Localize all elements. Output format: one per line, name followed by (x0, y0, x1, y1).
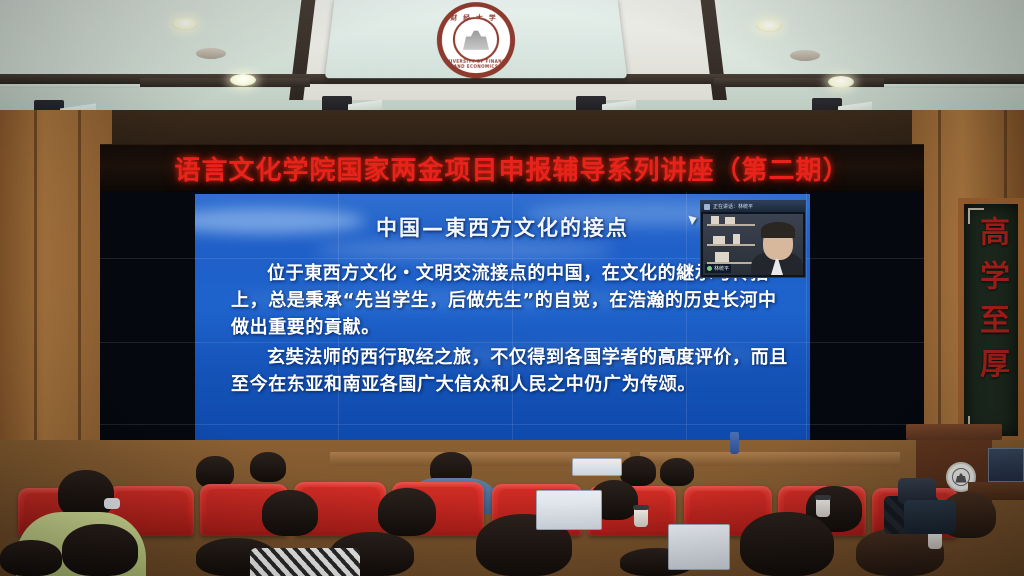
ceiling-light (172, 18, 198, 30)
audience-head (740, 512, 834, 576)
banner-title: 语言文化学院国家两金项目申报辅导系列讲座（第二期） (174, 150, 849, 187)
audience-head (660, 458, 694, 486)
audience-head (250, 452, 286, 482)
smoke-detector-icon (790, 50, 820, 61)
led-video-wall[interactable]: 中国—東西方文化的接点 位于東西方文化・文明交流接点的中国，在文化的継承与传播上… (100, 192, 924, 460)
university-emblem-plate: 财经大学 UNIVERSITY OF FINANCE AND ECONOMICS (325, 0, 627, 78)
plaque-text: 高学至厚 (969, 216, 1013, 392)
face-mask (104, 498, 120, 509)
video-call-status-text: 正在讲话：林统平 (713, 203, 753, 210)
lecture-hall-photo: 财经大学 UNIVERSITY OF FINANCE AND ECONOMICS… (0, 0, 1024, 576)
audience-head (378, 488, 436, 536)
slide-paragraph: 玄奘法师的西行取经之旅，不仅得到各国学者的高度评价，而且至今在东亚和南亚各国广大… (231, 344, 790, 398)
microphone-icon (704, 204, 710, 210)
audience-head (58, 470, 114, 518)
water-bottle (730, 432, 739, 454)
podium-top (906, 424, 1002, 440)
ceiling-light (230, 74, 256, 86)
audience-laptop[interactable] (572, 458, 622, 476)
ceiling-light (828, 76, 854, 88)
audience-head (62, 524, 138, 576)
video-nametag: 林统平 (705, 264, 731, 273)
backpack (904, 500, 956, 534)
video-call-panel[interactable]: 正在讲话：林统平 林统平 (700, 200, 806, 278)
remote-speaker-hair (761, 222, 795, 238)
university-crest-icon: 财经大学 UNIVERSITY OF FINANCE AND ECONOMICS (436, 2, 517, 78)
slide-body: 位于東西方文化・文明交流接点的中国，在文化的継承与传播上，总是秉承“先当学生，后… (231, 260, 790, 401)
wall-plaque: 高学至厚 (958, 198, 1024, 442)
ceiling-light (756, 20, 782, 32)
video-call-statusbar: 正在讲话：林统平 (701, 201, 805, 212)
smoke-detector-icon (196, 48, 226, 59)
audience-head (262, 490, 318, 536)
event-banner: 语言文化学院国家两金项目申报辅导系列讲座（第二期） (100, 144, 924, 192)
video-feed: 林统平 (703, 214, 803, 275)
audience-laptop[interactable] (668, 524, 730, 570)
audience-head (0, 540, 62, 576)
audience-garment (250, 548, 360, 576)
left-wall (0, 110, 112, 490)
coffee-cup (634, 508, 648, 527)
audience-laptop[interactable] (536, 490, 602, 530)
audio-active-icon (707, 266, 712, 271)
speaker-name: 林统平 (714, 265, 729, 272)
emblem-english-name: UNIVERSITY OF FINANCE AND ECONOMICS (441, 59, 511, 69)
podium-laptop (988, 448, 1024, 482)
coffee-cup (816, 498, 830, 517)
